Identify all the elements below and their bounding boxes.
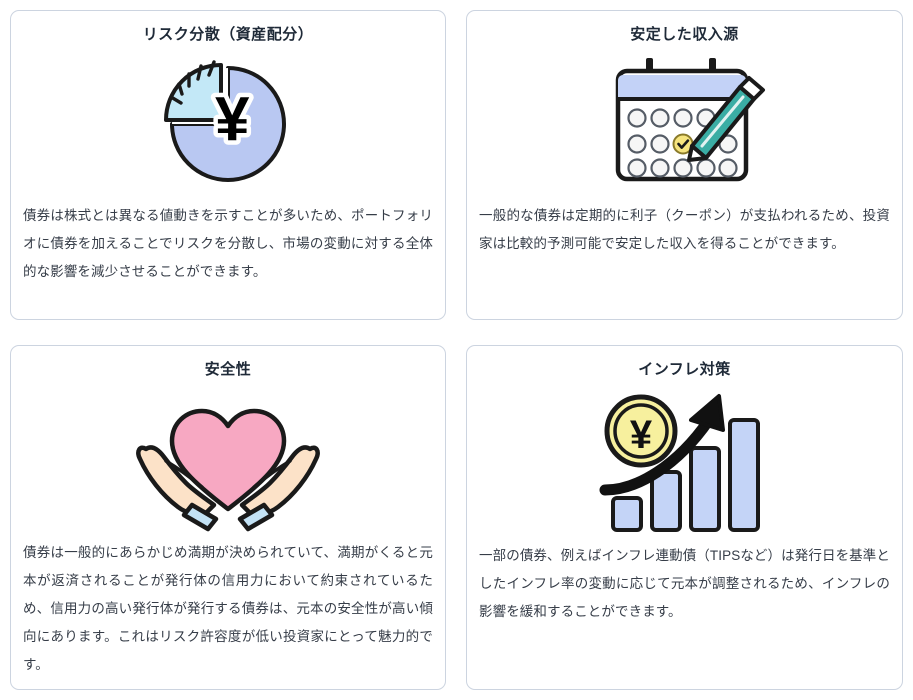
card-inflation-hedge[interactable]: インフレ対策 ¥ xyxy=(466,345,903,690)
card-body-text: 債券は一般的にあらかじめ満期が決められていて、満期がくると元本が返済されることが… xyxy=(23,539,433,679)
card-stable-income[interactable]: 安定した収入源 xyxy=(466,10,903,320)
card-title: インフレ対策 xyxy=(479,360,890,380)
card-cell-stable-income: 安定した収入源 xyxy=(456,0,913,330)
card-body-text: 一般的な債券は定期的に利子（クーポン）が支払われるため、投資家は比較的予測可能で… xyxy=(479,202,890,258)
card-body-text: 債券は株式とは異なる値動きを示すことが多いため、ポートフォリオに債券を加えること… xyxy=(23,202,433,286)
card-safety[interactable]: 安全性 xyxy=(10,345,446,690)
growth-bars-yen-coin-icon: ¥ xyxy=(479,386,890,536)
feature-card-grid: リスク分散（資産配分） xyxy=(0,0,913,700)
card-title: 安全性 xyxy=(23,360,433,380)
calendar-pencil-icon xyxy=(479,51,890,196)
svg-text:¥: ¥ xyxy=(215,85,250,154)
card-cell-safety: 安全性 xyxy=(0,330,456,700)
card-cell-risk-diversification: リスク分散（資産配分） xyxy=(0,0,456,330)
card-body-text: 一部の債券、例えばインフレ連動債（TIPSなど）は発行日を基準としたインフレ率の… xyxy=(479,542,890,626)
card-title: リスク分散（資産配分） xyxy=(23,25,433,45)
svg-text:¥: ¥ xyxy=(629,413,652,457)
pie-chart-yen-icon: ¥ ¥ xyxy=(23,51,433,196)
hands-holding-heart-icon xyxy=(23,386,433,533)
card-risk-diversification[interactable]: リスク分散（資産配分） xyxy=(10,10,446,320)
card-title: 安定した収入源 xyxy=(479,25,890,45)
card-cell-inflation-hedge: インフレ対策 ¥ xyxy=(456,330,913,700)
